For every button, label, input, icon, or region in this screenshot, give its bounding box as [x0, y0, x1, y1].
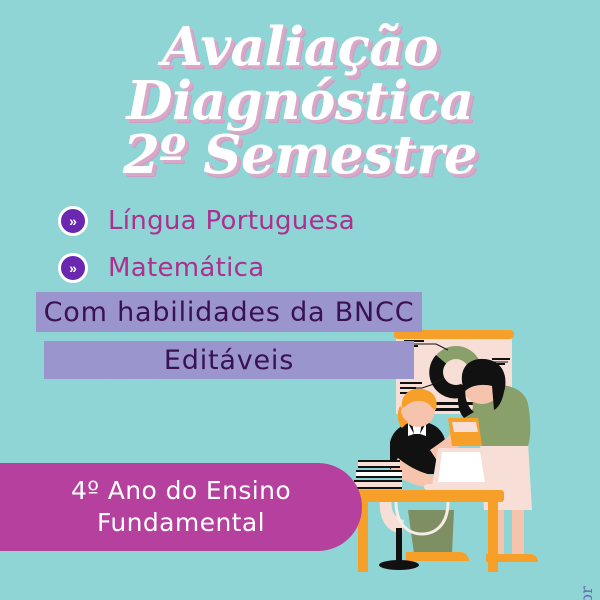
book-stack-icon — [354, 460, 402, 489]
grade-badge[interactable]: 4º Ano do Ensino Fundamental — [0, 463, 362, 551]
subject-label-math: Matemática — [108, 253, 264, 283]
title-line-1: Avaliação — [0, 22, 600, 74]
highlight-bncc: Com habilidades da BNCC — [36, 292, 422, 332]
grade-line-1: 4º Ano do Ensino — [71, 475, 291, 508]
title-line-2: Diagnóstica — [0, 76, 600, 128]
watermark-url: pegagogiaparatransformar.com.br — [577, 586, 596, 600]
list-item[interactable]: » Matemática — [58, 247, 355, 288]
subject-label-portuguese: Língua Portuguesa — [108, 206, 355, 236]
highlight-editable: Editáveis — [44, 341, 414, 379]
grade-line-2: Fundamental — [97, 507, 265, 540]
subject-list: » Língua Portuguesa » Matemática — [58, 200, 355, 294]
folder-icon — [448, 418, 482, 446]
poster-canvas: Avaliação Diagnóstica 2º Semestre » Líng… — [0, 0, 600, 600]
highlight-label-editable: Editáveis — [164, 345, 294, 376]
list-item[interactable]: » Língua Portuguesa — [58, 200, 355, 241]
chevron-double-right-icon: » — [58, 206, 88, 236]
highlight-label-bncc: Com habilidades da BNCC — [44, 297, 415, 328]
title-line-3: 2º Semestre — [0, 130, 600, 182]
chevron-double-right-icon: » — [58, 253, 88, 283]
page-title: Avaliação Diagnóstica 2º Semestre — [0, 22, 600, 182]
